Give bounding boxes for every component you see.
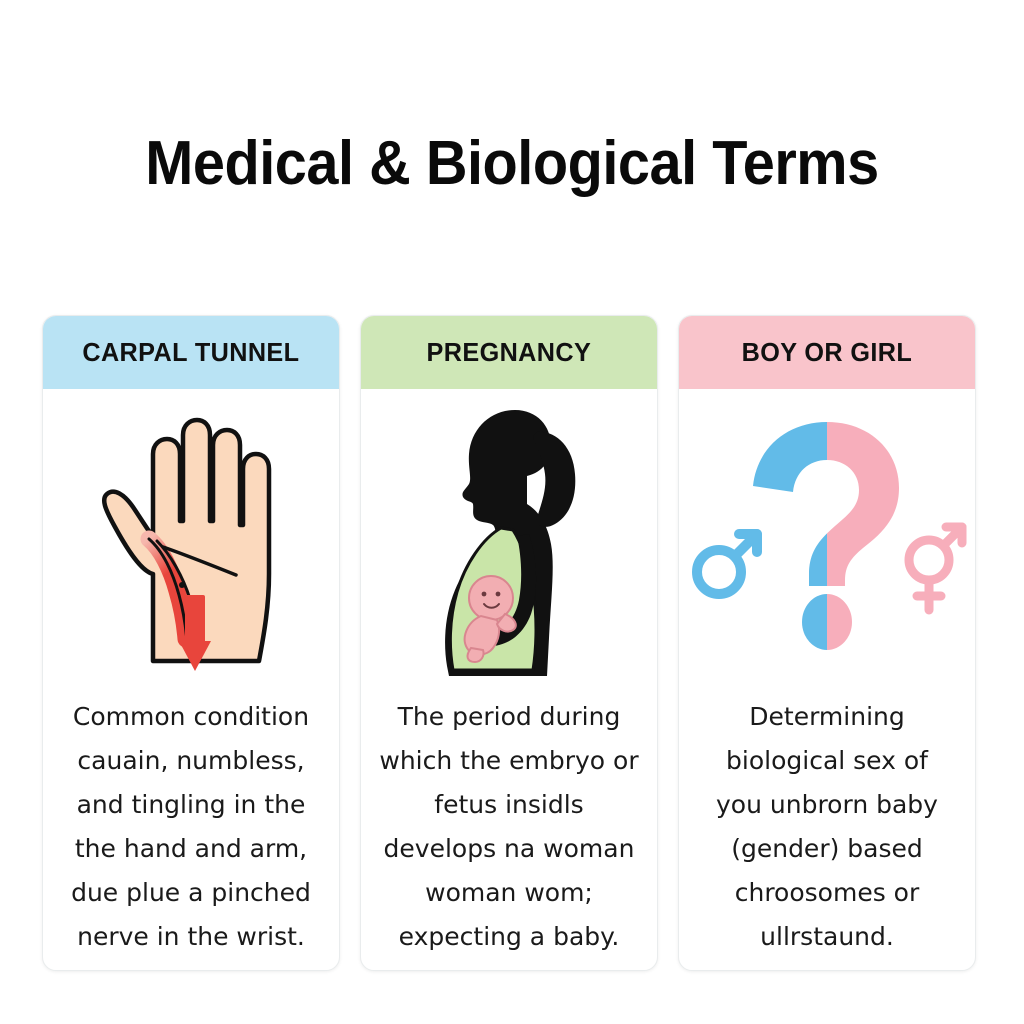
body-line: which the embryo or [379, 739, 639, 783]
body-line: Determining [697, 695, 957, 739]
card-figure-carpal-tunnel [43, 389, 339, 689]
body-line: nerve in the wrist. [61, 915, 321, 959]
card-figure-pregnancy [361, 389, 657, 689]
card-header-pregnancy: PREGNANCY [361, 316, 657, 389]
body-line: chroosomes or [697, 871, 957, 915]
body-line: and tingling in the [61, 783, 321, 827]
card-body-pregnancy: The period during which the embryo or fe… [361, 689, 657, 970]
body-line: ullrstaund. [697, 915, 957, 959]
card-header-label: CARPAL TUNNEL [82, 337, 299, 368]
body-line: The period during [379, 695, 639, 739]
card-boy-or-girl[interactable]: BOY OR GIRL [678, 315, 976, 971]
male-female-symbol-icon [909, 527, 962, 610]
card-pregnancy[interactable]: PREGNANCY [360, 315, 658, 971]
body-line: biological sex of [697, 739, 957, 783]
body-line: fetus insidls [379, 783, 639, 827]
body-line: the hand and arm, [61, 827, 321, 871]
card-header-boy-or-girl: BOY OR GIRL [679, 316, 975, 389]
card-carpal-tunnel[interactable]: CARPAL TUNNEL [42, 315, 340, 971]
body-line: due plue a pinched [61, 871, 321, 915]
page-title: Medical & Biological Terms [36, 128, 988, 199]
body-line: you unbrorn baby [697, 783, 957, 827]
body-line: cauain, numbless, [61, 739, 321, 783]
card-body-carpal-tunnel: Common condition cauain, numbless, and t… [43, 689, 339, 970]
pregnant-woman-silhouette [409, 398, 609, 680]
male-symbol-icon [697, 534, 757, 594]
card-body-boy-or-girl: Determining biological sex of you unbror… [679, 689, 975, 970]
body-line: woman wom; [379, 871, 639, 915]
card-header-carpal-tunnel: CARPAL TUNNEL [43, 316, 339, 389]
cards-container: CARPAL TUNNEL [42, 315, 976, 971]
body-line: develops na woman [379, 827, 639, 871]
question-mark-gender-symbols [687, 414, 967, 664]
hand-nerve-illustration [91, 399, 291, 679]
card-figure-boy-or-girl [679, 389, 975, 689]
body-line: (gender) based [697, 827, 957, 871]
card-header-label: BOY OR GIRL [742, 337, 913, 368]
body-line: Common condition [61, 695, 321, 739]
card-header-label: PREGNANCY [427, 337, 592, 368]
question-mark-glyph [753, 422, 899, 650]
body-line: expecting a baby. [379, 915, 639, 959]
